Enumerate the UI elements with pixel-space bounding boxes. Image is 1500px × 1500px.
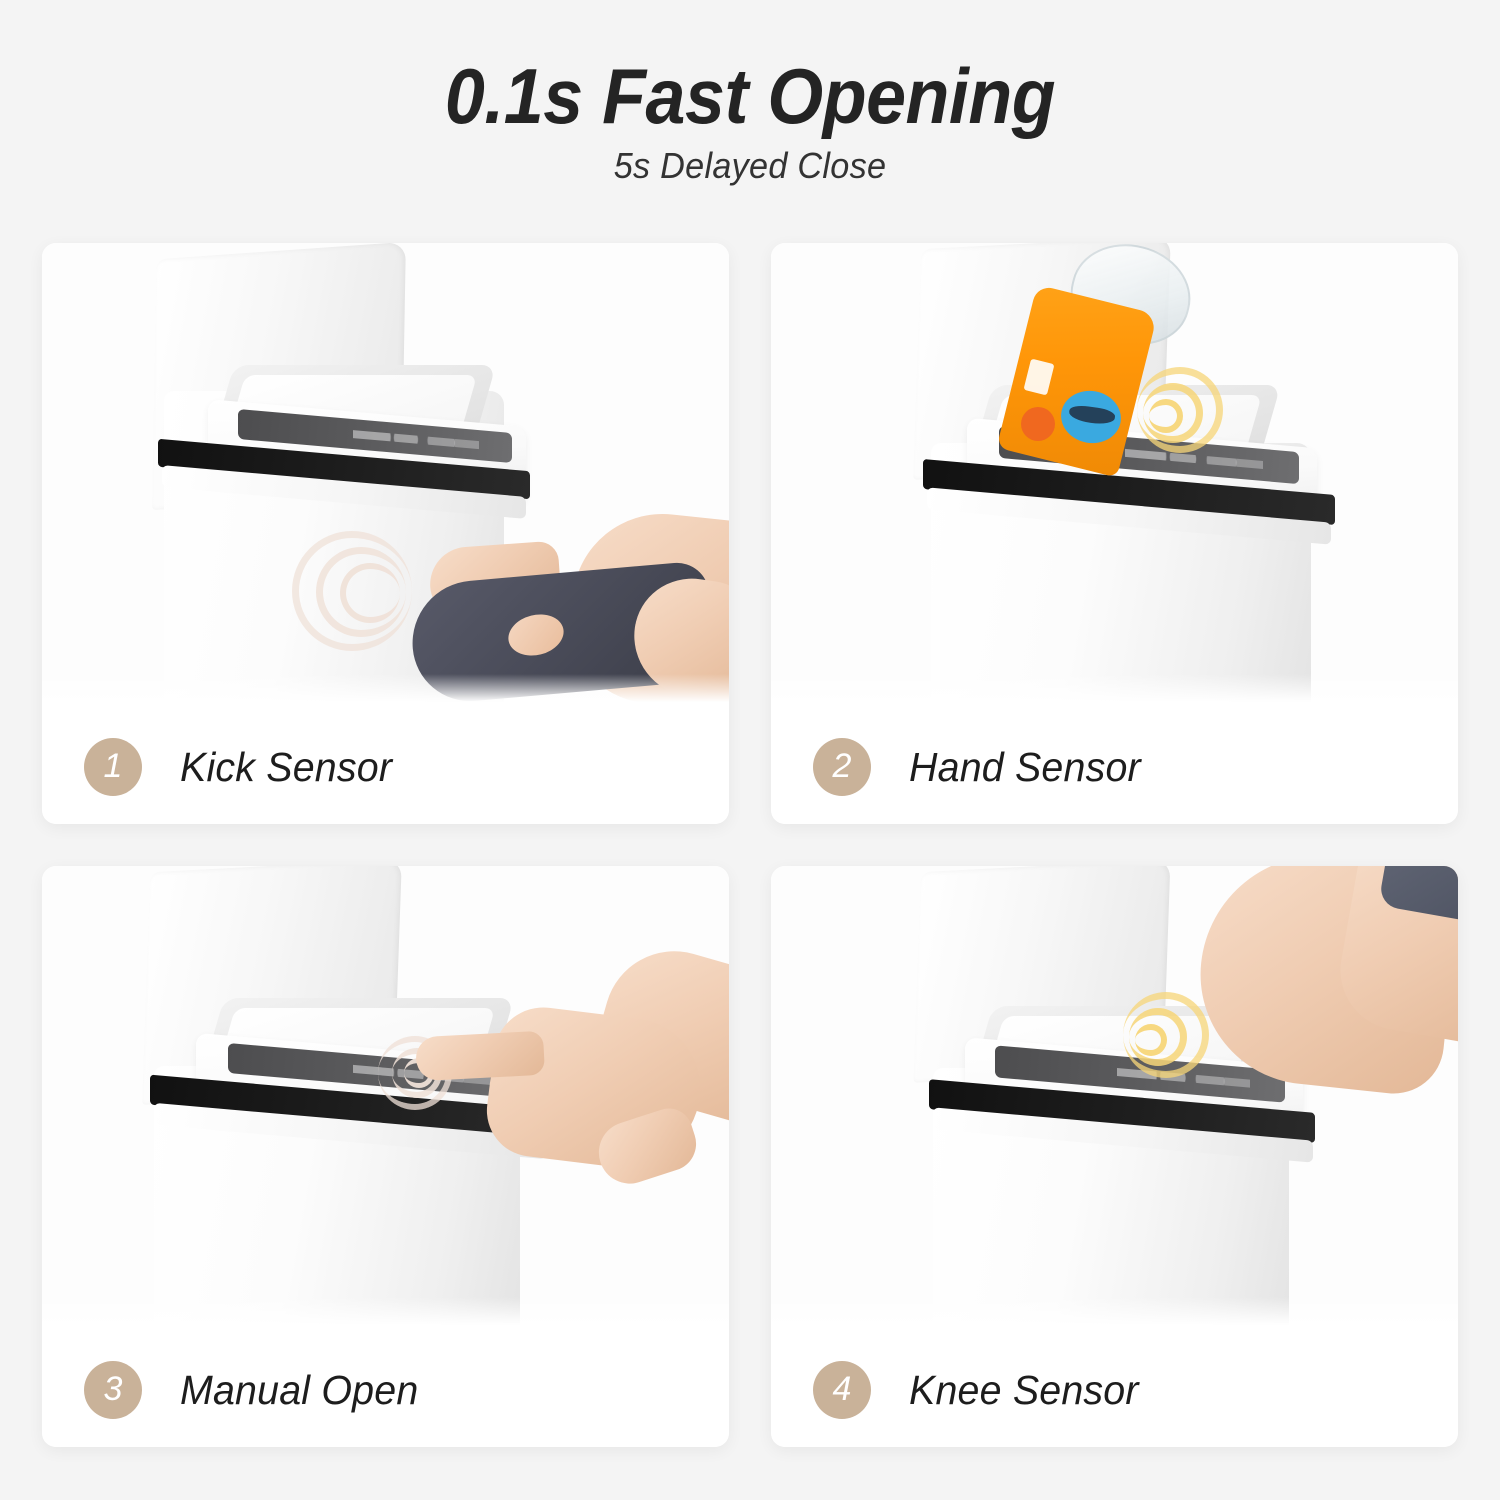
page-subtitle: 5s Delayed Close bbox=[38, 143, 1463, 189]
caption-bar: 4 Knee Sensor bbox=[771, 1333, 1458, 1447]
index-finger-icon bbox=[415, 1031, 545, 1082]
page-title: 0.1s Fast Opening bbox=[60, 52, 1440, 140]
feature-card-knee-sensor[interactable]: 4 Knee Sensor bbox=[771, 866, 1458, 1447]
sensor-panel-marks-icon bbox=[1125, 449, 1263, 469]
caption-bar: 1 Kick Sensor bbox=[42, 710, 729, 824]
header: 0.1s Fast Opening 5s Delayed Close bbox=[0, 0, 1500, 243]
feature-card-manual-open[interactable]: 3 Manual Open bbox=[42, 866, 729, 1447]
caption-bar: 3 Manual Open bbox=[42, 1333, 729, 1447]
caption-label: Manual Open bbox=[180, 1367, 418, 1414]
caption-label: Kick Sensor bbox=[180, 744, 392, 791]
sensor-wave-icon bbox=[1135, 1024, 1167, 1056]
caption-label: Hand Sensor bbox=[909, 744, 1141, 791]
photo-hand-sensor bbox=[771, 243, 1458, 710]
step-badge: 1 bbox=[84, 738, 142, 796]
bottle-mascot-orange-icon bbox=[1021, 407, 1055, 441]
sensor-panel-marks-icon bbox=[353, 430, 479, 449]
sensor-wave-icon bbox=[1149, 399, 1183, 433]
step-badge: 3 bbox=[84, 1361, 142, 1419]
feature-card-kick-sensor[interactable]: 1 Kick Sensor bbox=[42, 243, 729, 824]
step-badge: 4 bbox=[813, 1361, 871, 1419]
caption-label: Knee Sensor bbox=[909, 1367, 1139, 1414]
photo-knee-sensor bbox=[771, 866, 1458, 1333]
feature-card-grid: 1 Kick Sensor bbox=[42, 243, 1458, 1447]
caption-bar: 2 Hand Sensor bbox=[771, 710, 1458, 824]
step-badge: 2 bbox=[813, 738, 871, 796]
feature-card-hand-sensor[interactable]: 2 Hand Sensor bbox=[771, 243, 1458, 824]
photo-kick-sensor bbox=[42, 243, 729, 710]
sensor-wave-icon bbox=[340, 563, 400, 623]
photo-manual-open bbox=[42, 866, 729, 1333]
